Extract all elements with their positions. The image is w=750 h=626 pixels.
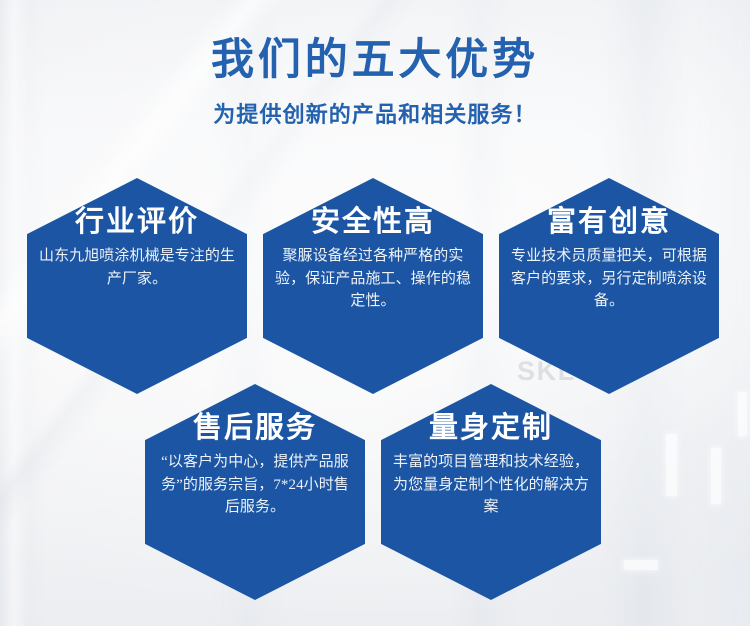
advantage-title: 量身定制	[429, 412, 553, 444]
advantage-card-after-sales[interactable]: 售后服务 “以客户为中心，提供产品服务”的服务宗旨，7*24小时售后服务。	[145, 384, 365, 600]
page-title: 我们的五大优势	[0, 38, 750, 83]
advantage-body: 丰富的项目管理和技术经验，为您量身定制个性化的解决方案	[393, 451, 589, 519]
advantage-title: 安全性高	[311, 206, 435, 238]
banner-header: 我们的五大优势 为提供创新的产品和相关服务！	[0, 38, 750, 129]
advantage-card-customization[interactable]: 量身定制 丰富的项目管理和技术经验，为您量身定制个性化的解决方案	[381, 384, 601, 600]
advantage-title: 富有创意	[547, 206, 671, 238]
advantage-card-high-safety[interactable]: 安全性高 聚脲设备经过各种严格的实验，保证产品施工、操作的稳定性。	[263, 178, 483, 394]
advantage-card-creative[interactable]: 富有创意 专业技术员质量把关，可根据客户的要求，另行定制喷涂设备。	[499, 178, 719, 394]
advantage-card-industry-rating[interactable]: 行业评价 山东九旭喷涂机械是专注的生产厂家。	[27, 178, 247, 394]
advantage-body: 聚脲设备经过各种严格的实验，保证产品施工、操作的稳定性。	[273, 245, 473, 313]
advantage-title: 售后服务	[193, 412, 317, 444]
advantage-body: 山东九旭喷涂机械是专注的生产厂家。	[37, 245, 237, 290]
advantage-title: 行业评价	[75, 206, 199, 238]
advantage-body: 专业技术员质量把关，可根据客户的要求，另行定制喷涂设备。	[509, 245, 709, 313]
page-subtitle: 为提供创新的产品和相关服务！	[0, 97, 750, 129]
promo-banner: SKL 我们的五大优势 为提供创新的产品和相关服务！ 行业评价 山东九旭喷涂机械…	[0, 0, 750, 626]
advantage-body: “以客户为中心，提供产品服务”的服务宗旨，7*24小时售后服务。	[157, 451, 353, 519]
